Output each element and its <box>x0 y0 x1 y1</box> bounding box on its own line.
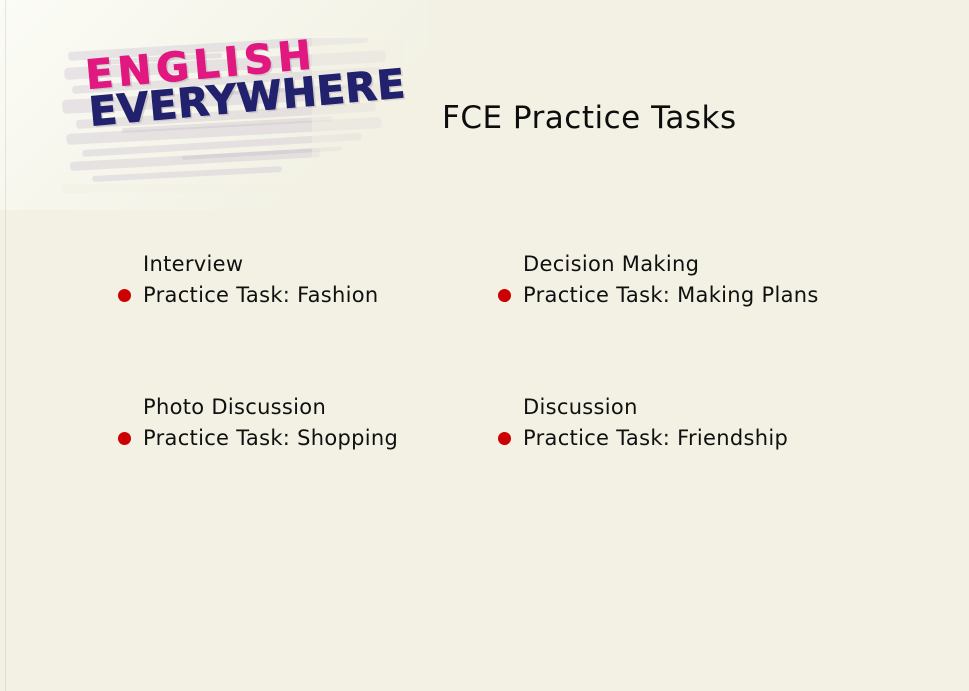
logo-wordmark: ENGLISH EVERYWHERE <box>84 28 401 133</box>
task-heading: Discussion <box>523 395 918 419</box>
task-cell-interview: Interview Practice Task: Fashion <box>118 252 498 307</box>
task-list-item[interactable]: Practice Task: Shopping <box>118 426 498 450</box>
task-heading: Interview <box>143 252 498 276</box>
task-list-item[interactable]: Practice Task: Making Plans <box>498 283 918 307</box>
task-list-item[interactable]: Practice Task: Fashion <box>118 283 498 307</box>
task-heading: Decision Making <box>523 252 918 276</box>
task-label: Practice Task: Shopping <box>143 426 398 450</box>
task-label: Practice Task: Fashion <box>143 283 379 307</box>
page-left-edge <box>5 0 6 691</box>
task-cell-discussion: Discussion Practice Task: Friendship <box>498 395 918 450</box>
task-list-item[interactable]: Practice Task: Friendship <box>498 426 918 450</box>
bullet-icon <box>118 289 131 302</box>
task-row: Photo Discussion Practice Task: Shopping… <box>118 395 918 450</box>
site-logo: ENGLISH EVERYWHERE <box>62 38 402 193</box>
bullet-icon <box>498 289 511 302</box>
task-label: Practice Task: Friendship <box>523 426 788 450</box>
bullet-icon <box>498 432 511 445</box>
task-row: Interview Practice Task: Fashion Decisio… <box>118 252 918 307</box>
task-cell-decision-making: Decision Making Practice Task: Making Pl… <box>498 252 918 307</box>
task-label: Practice Task: Making Plans <box>523 283 819 307</box>
page-title: FCE Practice Tasks <box>442 100 737 136</box>
task-cell-photo-discussion: Photo Discussion Practice Task: Shopping <box>118 395 498 450</box>
task-heading: Photo Discussion <box>143 395 498 419</box>
practice-task-grid: Interview Practice Task: Fashion Decisio… <box>118 252 918 450</box>
bullet-icon <box>118 432 131 445</box>
